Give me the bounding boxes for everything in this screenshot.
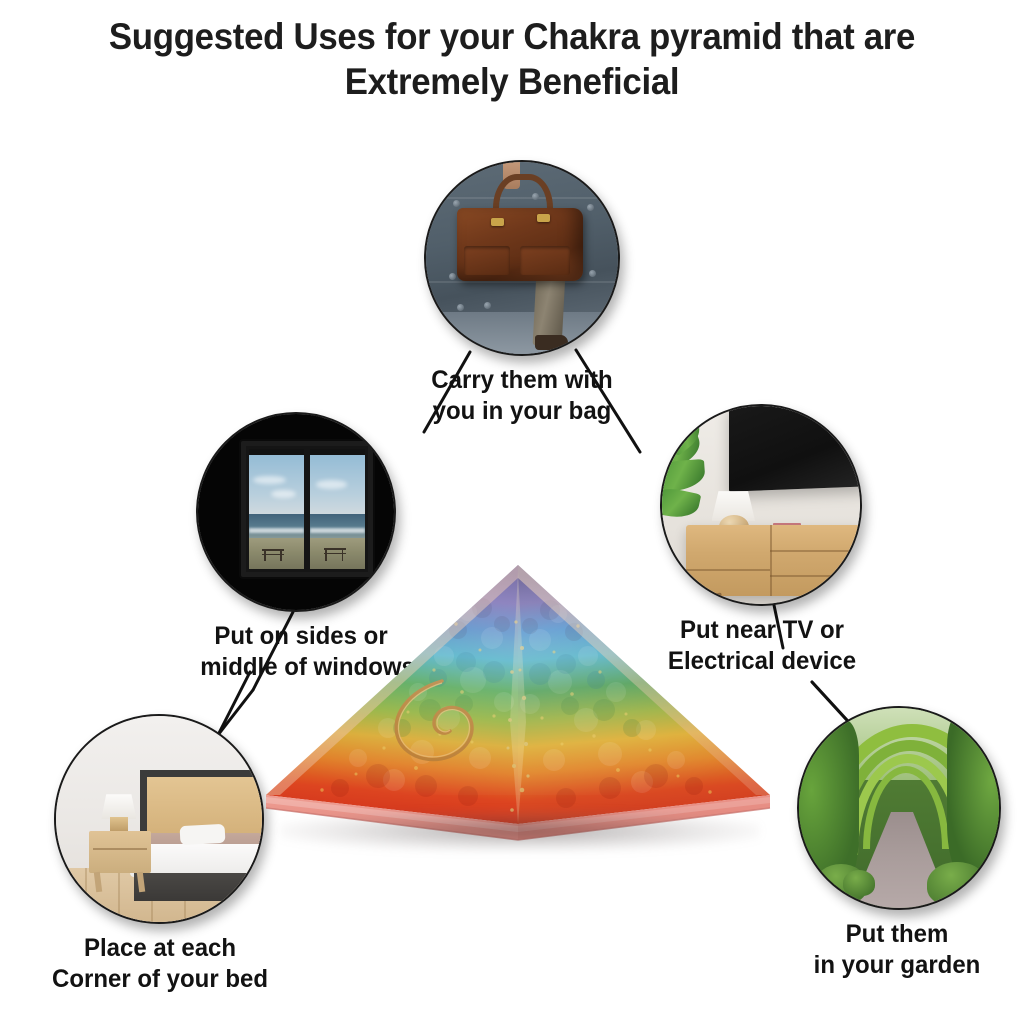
caption-garden: Put them in your garden [794,919,999,981]
caption-bag-line-1: Carry them with [428,365,616,396]
caption-garden-line-1: Put them [794,919,999,950]
caption-bed-line-1: Place at each [41,933,279,964]
callout-garden[interactable]: Put them in your garden [790,706,1004,981]
page-title: Suggested Uses for your Chakra pyramid t… [0,14,1024,104]
page-title-line-1: Suggested Uses for your Chakra pyramid t… [31,14,994,59]
pyramid-shadow [280,810,760,852]
photo-garden-archway-path [797,706,1001,910]
callout-bag[interactable]: Carry them with you in your bag [424,160,620,427]
orgonite-chakra-pyramid [258,552,782,862]
photo-bedroom-with-bed-and-nightstand [54,714,264,924]
caption-garden-line-2: in your garden [794,950,999,981]
caption-bag-line-2: you in your bag [428,396,616,427]
caption-bed: Place at each Corner of your bed [41,933,279,995]
infographic-page: Suggested Uses for your Chakra pyramid t… [0,0,1024,1024]
caption-bag: Carry them with you in your bag [428,365,616,427]
page-title-line-2: Extremely Beneficial [31,59,994,104]
callout-bed[interactable]: Place at each Corner of your bed [36,714,284,995]
photo-person-carrying-leather-bag [424,160,620,356]
caption-bed-line-2: Corner of your bed [41,964,279,995]
